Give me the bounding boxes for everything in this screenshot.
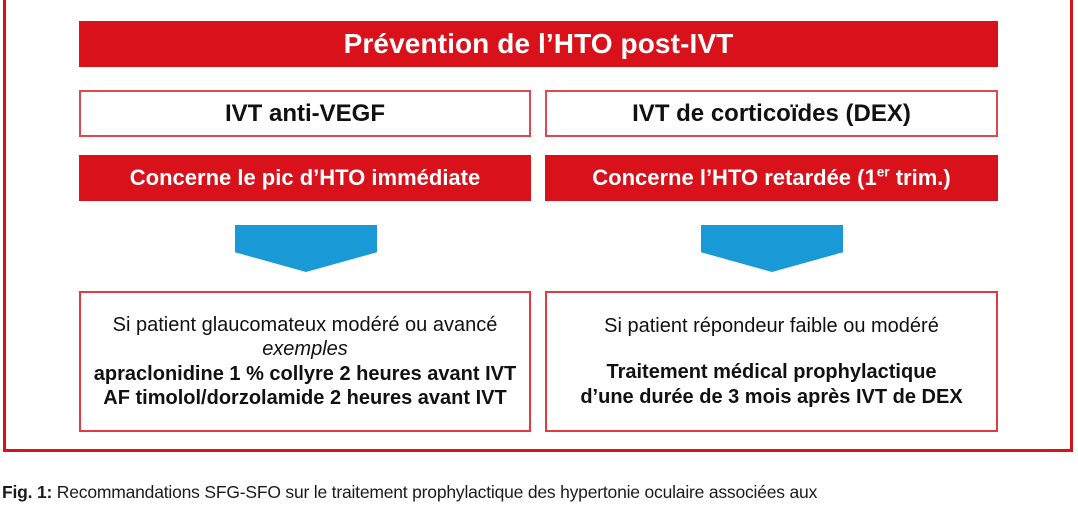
detail-line-examples-label: exemples — [87, 337, 523, 361]
detail-line-condition: Si patient glaucomateux modéré ou avancé — [87, 313, 523, 337]
figure-title-banner: Prévention de l’HTO post-IVT — [79, 21, 998, 67]
figure-caption: Fig. 1: Recommandations SFG-SFO sur le t… — [2, 482, 1076, 504]
figure-root: Prévention de l’HTO post-IVT IVT anti-VE… — [0, 0, 1078, 516]
detail-line-treatment-1: apraclonidine 1 % collyre 2 heures avant… — [87, 362, 523, 386]
column-header-label: IVT anti-VEGF — [225, 100, 385, 128]
concerne-band-text: Concerne l’HTO retardée (1er trim.) — [592, 165, 950, 191]
detail-line-treatment-1: Traitement médical prophylactique — [553, 360, 990, 384]
column-header-anti-vegf: IVT anti-VEGF — [79, 90, 531, 137]
figure-caption-label: Fig. 1: — [2, 482, 52, 502]
concerne-band-corticoides: Concerne l’HTO retardée (1er trim.) — [545, 155, 998, 201]
concerne-prefix: Concerne le pic d’HTO immédiate — [130, 165, 480, 190]
figure-caption-text: Recommandations SFG-SFO sur le traitemen… — [52, 482, 817, 502]
concerne-suffix: trim.) — [890, 165, 951, 190]
detail-box-anti-vegf: Si patient glaucomateux modéré ou avancé… — [79, 291, 531, 432]
figure-title-text: Prévention de l’HTO post-IVT — [344, 28, 734, 60]
detail-box-corticoides: Si patient répondeur faible ou modéré Tr… — [545, 291, 998, 432]
concerne-band-text: Concerne le pic d’HTO immédiate — [130, 165, 480, 191]
detail-line-treatment-2: AF timolol/dorzolamide 2 heures avant IV… — [87, 386, 523, 410]
detail-line-treatment-2: d’une durée de 3 mois après IVT de DEX — [553, 385, 990, 409]
concerne-superscript: er — [877, 165, 890, 180]
column-header-corticoides: IVT de corticoïdes (DEX) — [545, 90, 998, 137]
detail-line-condition: Si patient répondeur faible ou modéré — [553, 314, 990, 338]
column-header-label: IVT de corticoïdes (DEX) — [632, 100, 911, 128]
concerne-band-anti-vegf: Concerne le pic d’HTO immédiate — [79, 155, 531, 201]
concerne-prefix: Concerne l’HTO retardée (1 — [592, 165, 876, 190]
